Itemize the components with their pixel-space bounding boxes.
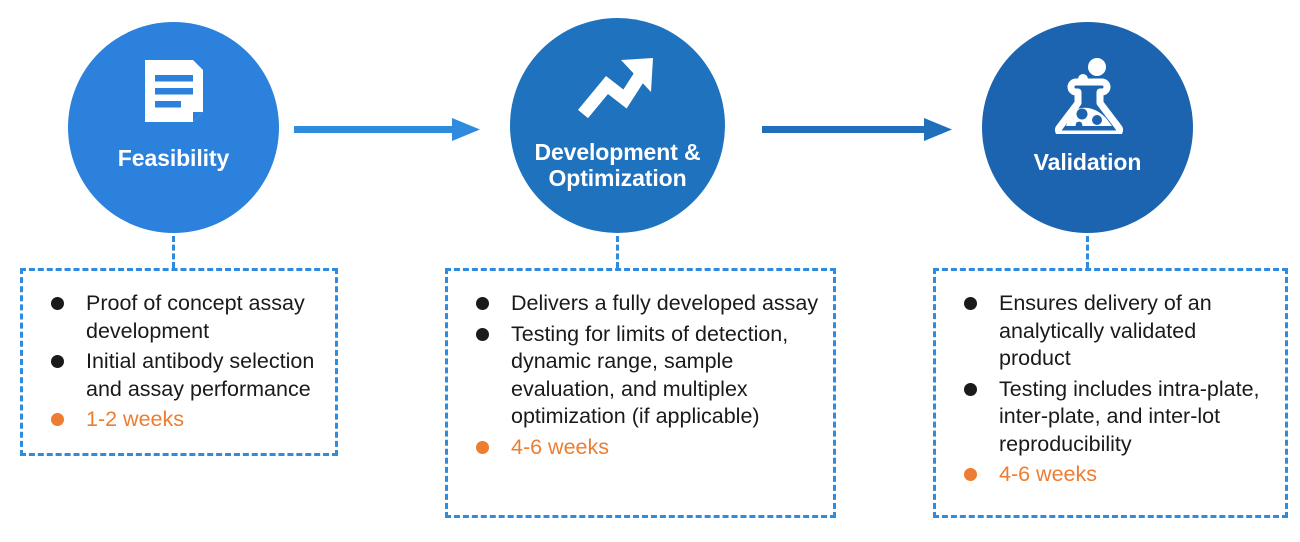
workflow-diagram: Feasibility Proof of concept assay devel… <box>0 0 1300 542</box>
connector-line-validation <box>1086 236 1089 268</box>
detail-box-validation: Ensures delivery of an analytically vali… <box>933 268 1288 518</box>
connector-line-development-optimization <box>616 236 619 268</box>
flask-icon <box>1050 56 1126 139</box>
connector-line-feasibility <box>172 236 175 268</box>
bullet-list-development-optimization: Delivers a fully developed assay Testing… <box>462 289 819 461</box>
list-item: Proof of concept assay development <box>37 289 321 345</box>
stage-label-feasibility: Feasibility <box>118 146 229 172</box>
list-item: Initial antibody selection and assay per… <box>37 347 321 403</box>
list-item-timeline: 1-2 weeks <box>37 405 321 434</box>
trending-up-arrow-icon <box>577 52 659 131</box>
list-item-timeline: 4-6 weeks <box>462 433 819 462</box>
list-item: Testing for limits of detection, dynamic… <box>462 320 819 431</box>
bullet-dot-icon <box>476 328 489 341</box>
bullet-dot-icon <box>51 355 64 368</box>
bullet-list-validation: Ensures delivery of an analytically vali… <box>950 289 1271 489</box>
stage-circle-feasibility[interactable]: Feasibility <box>68 22 279 233</box>
bullet-dot-icon <box>964 297 977 310</box>
bullet-dot-icon <box>964 383 977 396</box>
stage-label-validation: Validation <box>1034 150 1142 176</box>
bullet-list-feasibility: Proof of concept assay development Initi… <box>37 289 321 434</box>
arrow-right-icon-1 <box>294 112 480 155</box>
stage-circle-validation[interactable]: Validation <box>982 22 1193 233</box>
list-item: Ensures delivery of an analytically vali… <box>950 289 1271 373</box>
detail-box-development-optimization: Delivers a fully developed assay Testing… <box>445 268 836 518</box>
list-item: Delivers a fully developed assay <box>462 289 819 318</box>
arrow-right-icon-2 <box>762 112 952 155</box>
bullet-dot-icon-timeline <box>476 441 489 454</box>
bullet-dot-icon-timeline <box>964 468 977 481</box>
bullet-dot-icon-timeline <box>51 413 64 426</box>
bullet-dot-icon <box>476 297 489 310</box>
document-icon <box>137 56 211 135</box>
stage-circle-development-optimization[interactable]: Development & Optimization <box>510 18 725 233</box>
detail-box-feasibility: Proof of concept assay development Initi… <box>20 268 338 456</box>
bullet-dot-icon <box>51 297 64 310</box>
list-item: Testing includes intra-plate, inter-plat… <box>950 375 1271 459</box>
list-item-timeline: 4-6 weeks <box>950 460 1271 489</box>
stage-label-development-optimization: Development & Optimization <box>510 140 725 192</box>
